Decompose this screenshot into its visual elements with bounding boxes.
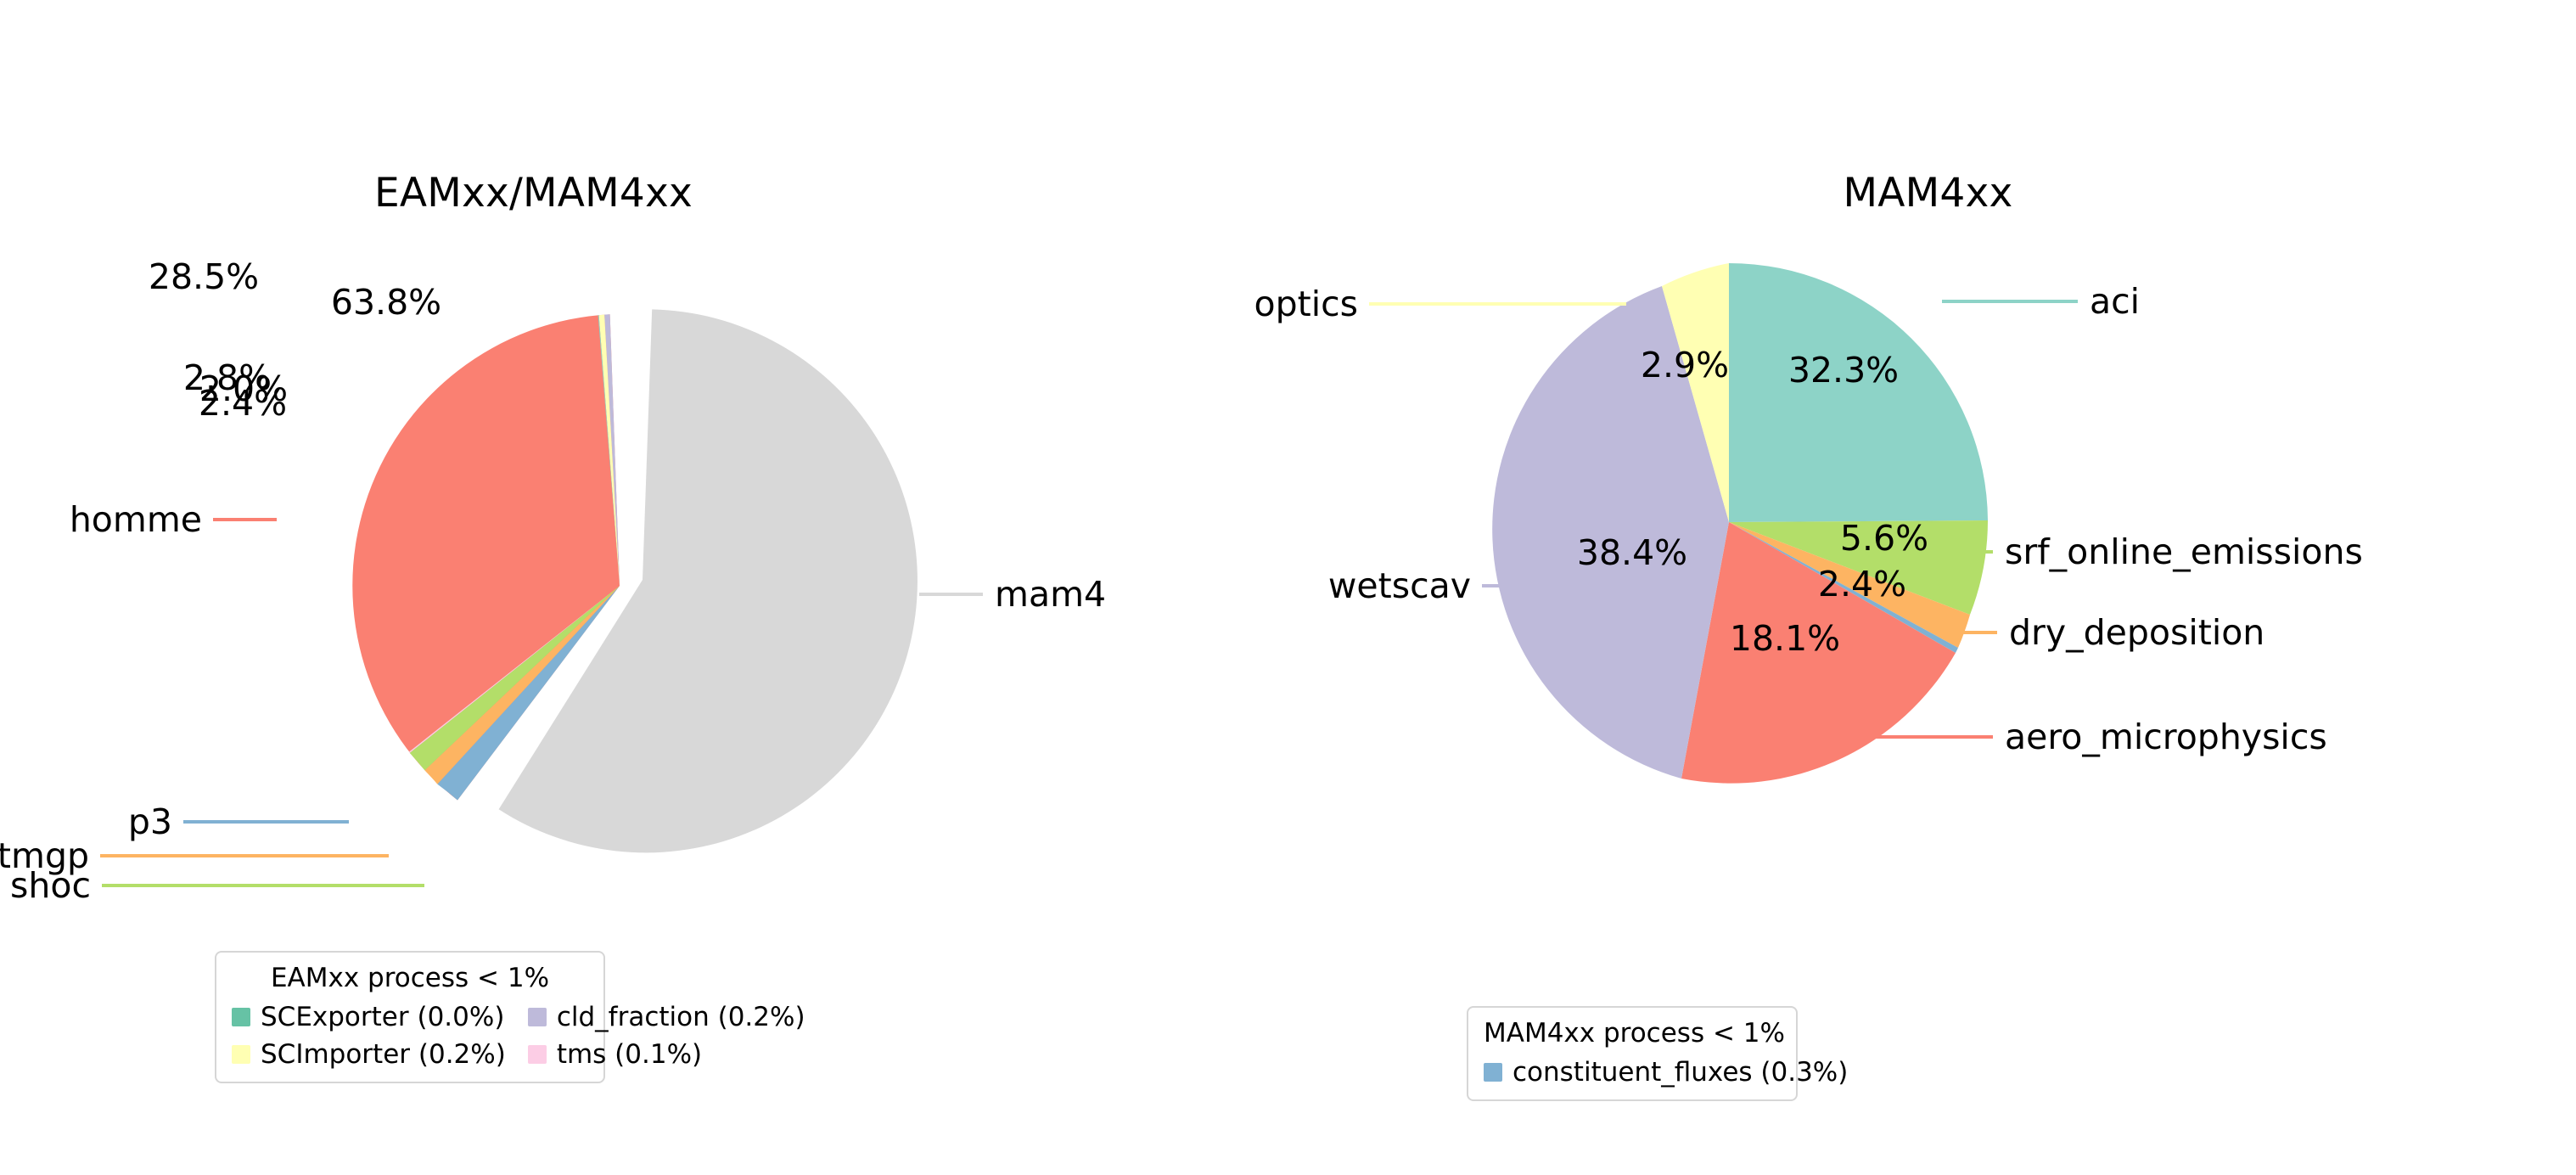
legend-item-scexporter[interactable]: SCExporter (0.0%) [232,1002,506,1032]
slice-label-aci: aci [2090,281,2140,322]
slice-label-srf: srf_online_emissions [2005,531,2363,572]
slice-pct-aci: 32.3% [1788,350,1899,391]
slice-label-homme: homme [70,499,202,540]
legend-label-constituent-fluxes: constituent_fluxes (0.3%) [1512,1057,1848,1088]
slice-pct-homme: 28.5% [149,256,259,297]
slice-label-shoc: shoc [10,865,91,906]
slice-pct-wetscav: 38.4% [1577,532,1687,573]
figure-canvas: EAMxx/MAM4xx [0,0,2576,1175]
legend-swatch-constituent-fluxes [1484,1063,1502,1082]
legend-mam4xx: MAM4xx process < 1% constituent_fluxes (… [1467,1006,1798,1101]
legend-swatch-scexporter [232,1008,250,1026]
pie-slices-eamxx [352,309,918,852]
pie-panel-eamxx: EAMxx/MAM4xx [0,0,1288,1175]
legend-item-tms[interactable]: tms (0.1%) [528,1039,805,1070]
slice-label-dry: dry_deposition [2009,612,2265,653]
legend-swatch-tms [528,1045,547,1064]
slice-pct-srf: 5.6% [1840,518,1928,559]
legend-label-scexporter: SCExporter (0.0%) [261,1002,504,1032]
legend-item-cld-fraction[interactable]: cld_fraction (0.2%) [528,1002,805,1032]
slice-label-optics: optics [1254,284,1358,324]
legend-title-eamxx: EAMxx process < 1% [232,963,588,993]
pie-svg-eamxx: 63.8% 28.5% 2.8% 2.0% 2.4% mam4 homme p3… [0,0,1288,1175]
slice-label-aero: aero_microphysics [2005,717,2327,757]
legend-item-constituent-fluxes[interactable]: constituent_fluxes (0.3%) [1484,1057,1848,1088]
legend-label-tms: tms (0.1%) [557,1039,702,1070]
slice-label-p3: p3 [128,801,172,842]
legend-swatch-cld-fraction [528,1008,547,1026]
legend-swatch-scimporter [232,1045,250,1064]
legend-item-scimporter[interactable]: SCImporter (0.2%) [232,1039,506,1070]
slice-pct-dry: 2.4% [1818,564,1906,604]
legend-label-scimporter: SCImporter (0.2%) [261,1039,506,1070]
slice-pct-optics: 2.9% [1641,345,1729,385]
legend-eamxx: EAMxx process < 1% SCExporter (0.0%) SCI… [215,951,605,1083]
pie-svg-mam4xx: 32.3% 5.6% 2.4% 18.1% 38.4% 2.9% aci srf… [1288,0,2576,1175]
legend-title-mam4xx: MAM4xx process < 1% [1484,1018,1781,1049]
legend-label-cld-fraction: cld_fraction (0.2%) [557,1002,805,1032]
slice-pct-mam4: 63.8% [331,282,441,323]
slice-pct-aero: 18.1% [1730,618,1840,659]
slice-label-wetscav: wetscav [1328,565,1471,606]
slice-pct-shoc: 2.4% [199,383,287,424]
pie-panel-mam4xx: MAM4xx [1288,0,2576,1175]
slice-label-mam4: mam4 [995,574,1106,615]
